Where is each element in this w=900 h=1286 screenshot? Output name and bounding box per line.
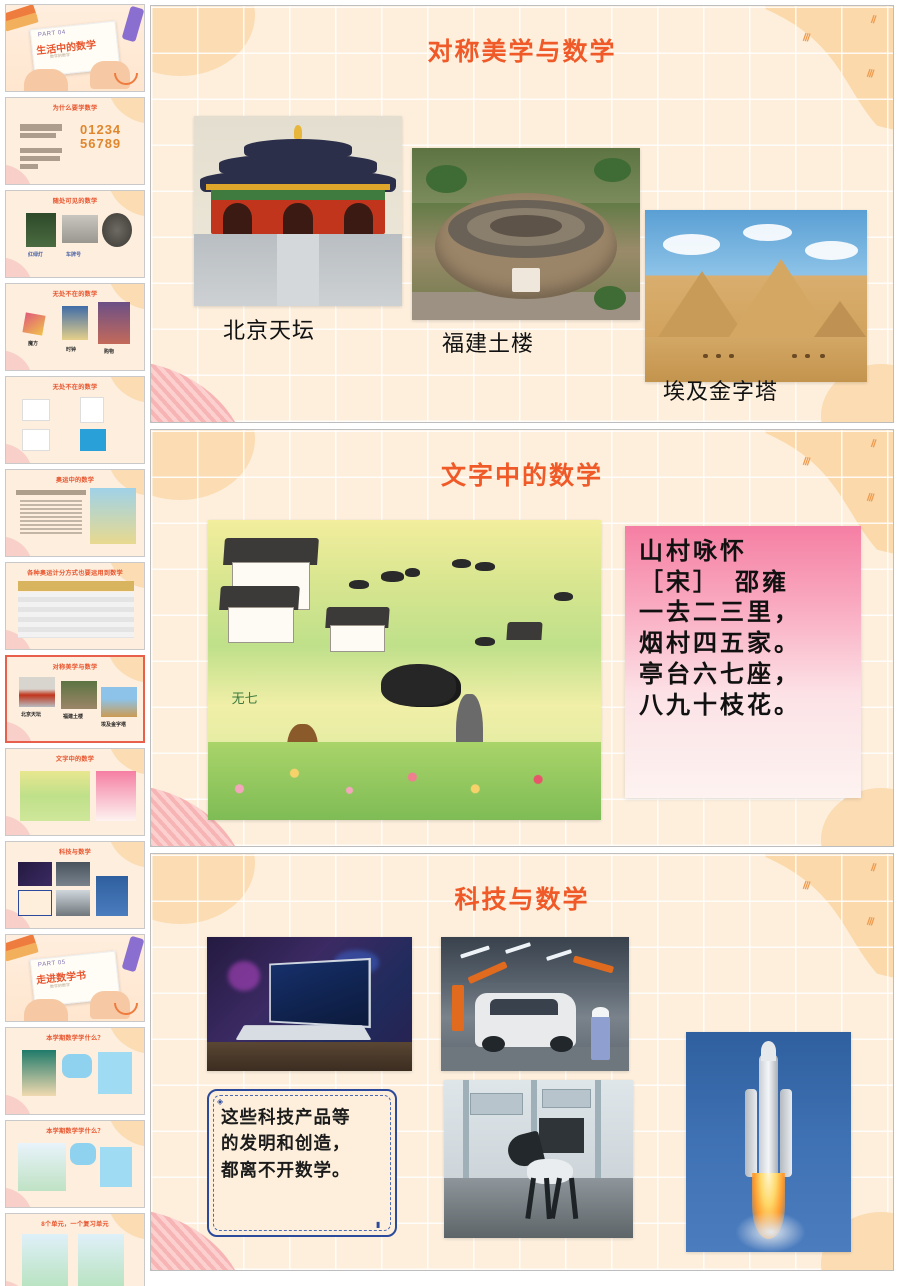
thumb-photo xyxy=(18,862,52,886)
painting-cow xyxy=(381,571,405,582)
rocket-body xyxy=(759,1054,779,1177)
presentation-workspace: PART 04 生活中的数学 数学的数学 为什么要学数学 0123456789 … xyxy=(0,0,900,1286)
rocket-exhaust-smoke xyxy=(736,1212,805,1252)
pencil-case-icon xyxy=(122,936,145,973)
quote-corner-icon: ◈ xyxy=(217,1097,226,1106)
slide-technology[interactable]: /// // /// 科技与数学 xyxy=(150,853,894,1271)
factory-worker xyxy=(591,1015,610,1061)
thumb-title: 科技与数学 xyxy=(6,847,144,856)
slide-text-math[interactable]: /// // /// 文字中的数学 xyxy=(150,429,894,847)
text-line xyxy=(20,124,62,131)
building-column xyxy=(595,1080,601,1178)
temple-arch xyxy=(223,203,252,233)
thumb-title: 本学期数学学什么？ xyxy=(6,1126,144,1135)
car-windshield xyxy=(490,999,558,1015)
list-card xyxy=(78,1234,124,1286)
worker-helmet xyxy=(592,1007,609,1018)
thumb-photo xyxy=(62,306,88,340)
photo-cloud xyxy=(663,234,721,255)
photo-path xyxy=(277,234,319,306)
textbook-cover xyxy=(22,1050,56,1096)
slide-thumbnail-5[interactable]: 无处不在的数学 xyxy=(5,376,145,464)
photo-car-factory[interactable] xyxy=(441,937,629,1071)
thumb-caption: 红绿灯 xyxy=(28,251,43,258)
rocket-nose-cone xyxy=(761,1041,776,1061)
building-floor xyxy=(444,1178,633,1238)
photo-beijing-temple-of-heaven[interactable] xyxy=(194,116,402,306)
photo-egypt-pyramids[interactable] xyxy=(645,210,867,382)
decor-blob xyxy=(5,1094,32,1115)
photo-village-painting[interactable]: 无七 xyxy=(208,520,601,820)
slide-thumbnail-2[interactable]: 为什么要学数学 0123456789 xyxy=(5,97,145,185)
temple-eave-gold xyxy=(206,184,389,190)
mascot-illustration xyxy=(98,1052,132,1094)
thumb-caption: 时钟 xyxy=(66,346,76,353)
slide-thumbnail-6[interactable]: 奥运中的数学 xyxy=(5,469,145,557)
thumb-title: 随处可见的数学 xyxy=(6,196,144,205)
thumb-caption: 福建土楼 xyxy=(63,713,83,720)
slide-title: 科技与数学 xyxy=(151,880,893,916)
painting-flower-field xyxy=(208,742,601,820)
slide-thumbnail-10[interactable]: 科技与数学 xyxy=(5,841,145,929)
thumb-photo xyxy=(22,312,45,335)
decor-blob xyxy=(5,536,32,557)
painting-cow xyxy=(554,592,574,601)
quote-line-2: 的发明和创造， xyxy=(221,1131,383,1157)
thumb-caption: 车牌号 xyxy=(66,251,81,258)
thumb-quote-card xyxy=(18,890,52,916)
painting-house xyxy=(330,625,385,652)
slide-thumbnail-11[interactable]: PART 05 走进数学书 数学的数学 xyxy=(5,934,145,1022)
photo-rocket-launch[interactable] xyxy=(686,1032,851,1252)
building-window xyxy=(470,1093,523,1115)
thumb-title: 奥运中的数学 xyxy=(6,475,144,484)
thumb-illustration xyxy=(80,429,106,451)
thumb-title: 本学期数学学什么？ xyxy=(6,1033,144,1042)
painting-cow xyxy=(452,559,472,568)
slide-thumbnail-13[interactable]: 本学期数学学什么？ xyxy=(5,1120,145,1208)
text-line xyxy=(20,164,38,169)
temple-eave-green xyxy=(211,190,386,200)
building-column xyxy=(463,1080,469,1178)
slide-title: 文字中的数学 xyxy=(151,456,893,492)
quote-line-3: 都离不开数学。 xyxy=(221,1158,383,1184)
thumb-illustration xyxy=(22,429,50,451)
laptop-keyboard xyxy=(235,1025,371,1040)
painting-cow xyxy=(349,580,369,589)
slide-thumbnail-12[interactable]: 本学期数学学什么？ xyxy=(5,1027,145,1115)
decor-blob xyxy=(5,721,33,743)
slide-thumbnail-7[interactable]: 各种奥运计分方式也要运用到数学 xyxy=(5,562,145,650)
desk-surface xyxy=(207,1042,412,1071)
thumb-title: 各种奥运计分方式也要运用到数学 xyxy=(6,568,144,577)
painting-house xyxy=(228,607,295,643)
thumb-title: 为什么要学数学 xyxy=(6,103,144,112)
thumb-photo xyxy=(62,215,98,243)
poem-line-3: 亭台六七座， xyxy=(639,659,849,690)
camel-silhouette xyxy=(792,354,797,358)
photo-tree xyxy=(594,286,626,310)
photo-laptop-technology[interactable] xyxy=(207,937,412,1071)
thumb-photo xyxy=(98,302,130,344)
thumb-caption: 北京天坛 xyxy=(21,711,41,718)
laptop-screen xyxy=(270,958,371,1029)
slide-thumbnail-3[interactable]: 随处可见的数学 红绿灯 车牌号 xyxy=(5,190,145,278)
poem-line-4: 八九十枝花。 xyxy=(639,690,849,721)
photo-light-glow xyxy=(228,961,261,990)
thumb-photo xyxy=(96,876,128,916)
table-rows xyxy=(18,592,134,638)
robot-arm-post xyxy=(452,985,463,1031)
painting-cow xyxy=(475,637,495,646)
photo-robot-dog[interactable] xyxy=(444,1080,633,1238)
slide-symmetry[interactable]: /// // /// 对称美学与数学 xyxy=(150,5,894,423)
quote-corner-icon: ▮ xyxy=(376,1220,385,1229)
painting-cow xyxy=(475,562,495,571)
slide-editor-pane: /// // /// 对称美学与数学 xyxy=(150,0,900,1286)
poem-line-2: 烟村四五家。 xyxy=(639,628,849,659)
list-card xyxy=(22,1234,68,1286)
thumb-title: 对称美学与数学 xyxy=(7,662,143,671)
colorful-numbers-graphic: 0123456789 xyxy=(80,123,138,163)
temple-arch xyxy=(283,203,312,233)
thumb-photo xyxy=(102,213,132,247)
painting-cow xyxy=(405,568,421,577)
text-block xyxy=(20,500,82,534)
slide-thumbnail-1[interactable]: PART 04 生活中的数学 数学的数学 xyxy=(5,4,145,92)
pyramid-right xyxy=(814,301,866,337)
painting-cow-large xyxy=(381,664,456,706)
tulou-entrance xyxy=(512,268,539,292)
poem-author: ［宋］ 邵雍 xyxy=(639,567,849,598)
thumb-photo xyxy=(56,862,90,886)
thumb-poster xyxy=(90,488,136,544)
painting-stamp: 无七 xyxy=(232,688,258,707)
rocket-booster-right xyxy=(780,1089,792,1177)
slide-thumbnail-4[interactable]: 无处不在的数学 魔方 时钟 购物 xyxy=(5,283,145,371)
thumb-title: 无处不在的数学 xyxy=(6,382,144,391)
slide-thumbnail-14[interactable]: 8个单元，一个复习单元 单元划分 xyxy=(5,1213,145,1286)
decor-blob-bottom-left xyxy=(150,360,249,423)
thumb-title: 无处不在的数学 xyxy=(6,289,144,298)
thumb-illustration xyxy=(80,397,104,423)
decor-blob xyxy=(5,350,32,371)
text-line xyxy=(20,156,60,161)
speech-bubble-icon xyxy=(62,1054,92,1078)
photo-cloud xyxy=(743,224,792,241)
poem-title: 山村咏怀 xyxy=(639,536,849,567)
slide-thumbnail-9[interactable]: 文字中的数学 xyxy=(5,748,145,836)
hand-illustration xyxy=(24,999,68,1021)
text-line xyxy=(20,133,56,138)
mascot-illustration xyxy=(100,1147,132,1187)
pencil-case-icon xyxy=(122,6,145,43)
thumb-illustration xyxy=(22,399,50,421)
photo-fujian-tulou[interactable] xyxy=(412,148,640,320)
temple-finial xyxy=(294,125,302,139)
list-card xyxy=(18,1143,66,1191)
speech-bubble-icon xyxy=(70,1143,96,1165)
camel-silhouette xyxy=(805,354,810,358)
slide-thumbnail-sidebar[interactable]: PART 04 生活中的数学 数学的数学 为什么要学数学 0123456789 … xyxy=(0,0,150,1286)
poem-card[interactable]: 山村咏怀 ［宋］ 邵雍 一去二三里， 烟村四五家。 亭台六七座， 八九十枝花。 xyxy=(625,526,861,798)
rocket-booster-left xyxy=(745,1089,757,1177)
thumb-poem-card xyxy=(96,771,136,821)
slide-thumbnail-8[interactable]: 对称美学与数学 北京天坛 福建土楼 埃及金字塔 xyxy=(5,655,145,743)
building-window xyxy=(542,1089,591,1108)
caption-beijing-temple-of-heaven: 北京天坛 xyxy=(223,313,315,345)
camel-silhouette xyxy=(703,354,708,358)
thumb-photo xyxy=(101,687,137,717)
camel-silhouette xyxy=(716,354,721,358)
photo-tree xyxy=(426,165,467,193)
thumb-photo xyxy=(26,213,56,247)
decor-blob xyxy=(5,257,32,278)
painting-roof xyxy=(223,538,319,565)
temple-roof-upper xyxy=(244,139,352,156)
photo-cloud xyxy=(805,241,858,260)
thumb-caption: 埃及金字塔 xyxy=(101,721,126,728)
car-wheel xyxy=(550,1036,573,1052)
quote-card[interactable]: ◈ ▮ 这些科技产品等 的发明和创造， 都离不开数学。 xyxy=(207,1089,397,1237)
thumb-caption: 魔方 xyxy=(28,340,38,347)
dark-panel xyxy=(539,1118,584,1153)
temple-roof-middle xyxy=(219,154,377,173)
quote-line-1: 这些科技产品等 xyxy=(221,1105,383,1131)
text-line xyxy=(20,148,62,153)
text-line xyxy=(16,490,86,495)
temple-arch xyxy=(344,203,373,233)
thumb-title: 文字中的数学 xyxy=(6,754,144,763)
slide-title: 对称美学与数学 xyxy=(151,32,893,68)
caption-fujian-tulou: 福建土楼 xyxy=(442,326,534,358)
thumb-title: 8个单元，一个复习单元 xyxy=(6,1219,144,1228)
poem-line-1: 一去二三里， xyxy=(639,597,849,628)
thumb-photo xyxy=(56,890,90,916)
caption-egypt-pyramids: 埃及金字塔 xyxy=(663,374,778,406)
thumb-photo xyxy=(19,677,55,707)
table-header-row xyxy=(18,581,134,591)
thumb-painting xyxy=(20,771,90,821)
hand-illustration xyxy=(24,69,68,91)
thumb-caption: 购物 xyxy=(104,348,114,355)
thumb-photo xyxy=(61,681,97,709)
painting-roof xyxy=(506,622,543,640)
